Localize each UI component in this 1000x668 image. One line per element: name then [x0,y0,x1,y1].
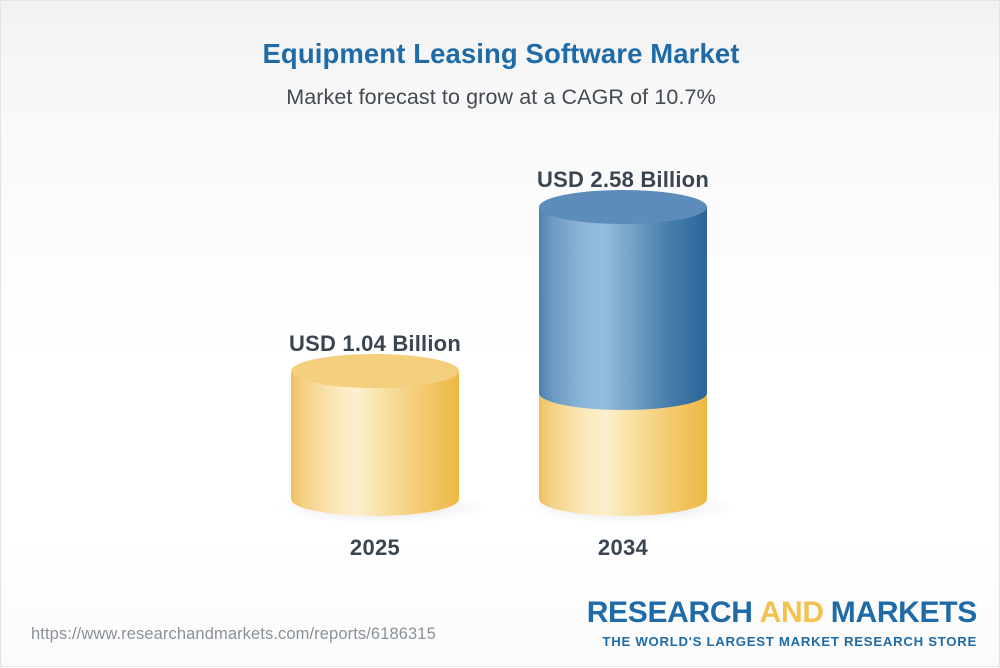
logo-wordmark: RESEARCHANDMARKETS [587,598,977,628]
logo-word-research: RESEARCH [587,596,753,629]
cylinder-bar-2034[interactable] [515,161,731,561]
logo-word-and: AND [760,596,824,629]
report-url[interactable]: https://www.researchandmarkets.com/repor… [31,625,436,644]
cylinder-segment-growth-2034 [539,207,707,410]
logo-word-markets: MARKETS [831,596,977,629]
cylinder-segment-base-2034 [539,393,707,516]
bar-group-2025[interactable]: USD 1.04 Billion [267,161,483,561]
brand-logo[interactable]: RESEARCHANDMARKETS THE WORLD'S LARGEST M… [587,598,977,648]
infographic-card: Equipment Leasing Software Market Market… [0,0,1000,667]
cylinder-bar-2025[interactable] [267,161,483,561]
chart-subtitle: Market forecast to grow at a CAGR of 10.… [1,85,1000,110]
bar-category-label-2034: 2034 [515,535,731,561]
cylinder-top-2034 [539,190,707,224]
logo-tagline: THE WORLD'S LARGEST MARKET RESEARCH STOR… [587,635,977,648]
page-title: Equipment Leasing Software Market [1,37,1000,70]
header: Equipment Leasing Software Market Market… [1,37,1000,110]
cylinder-top-2025 [291,354,459,388]
cylinder-body-2025 [291,371,459,516]
bar-category-label-2025: 2025 [267,535,483,561]
bar-group-2034[interactable]: USD 2.58 Billion [515,161,731,561]
